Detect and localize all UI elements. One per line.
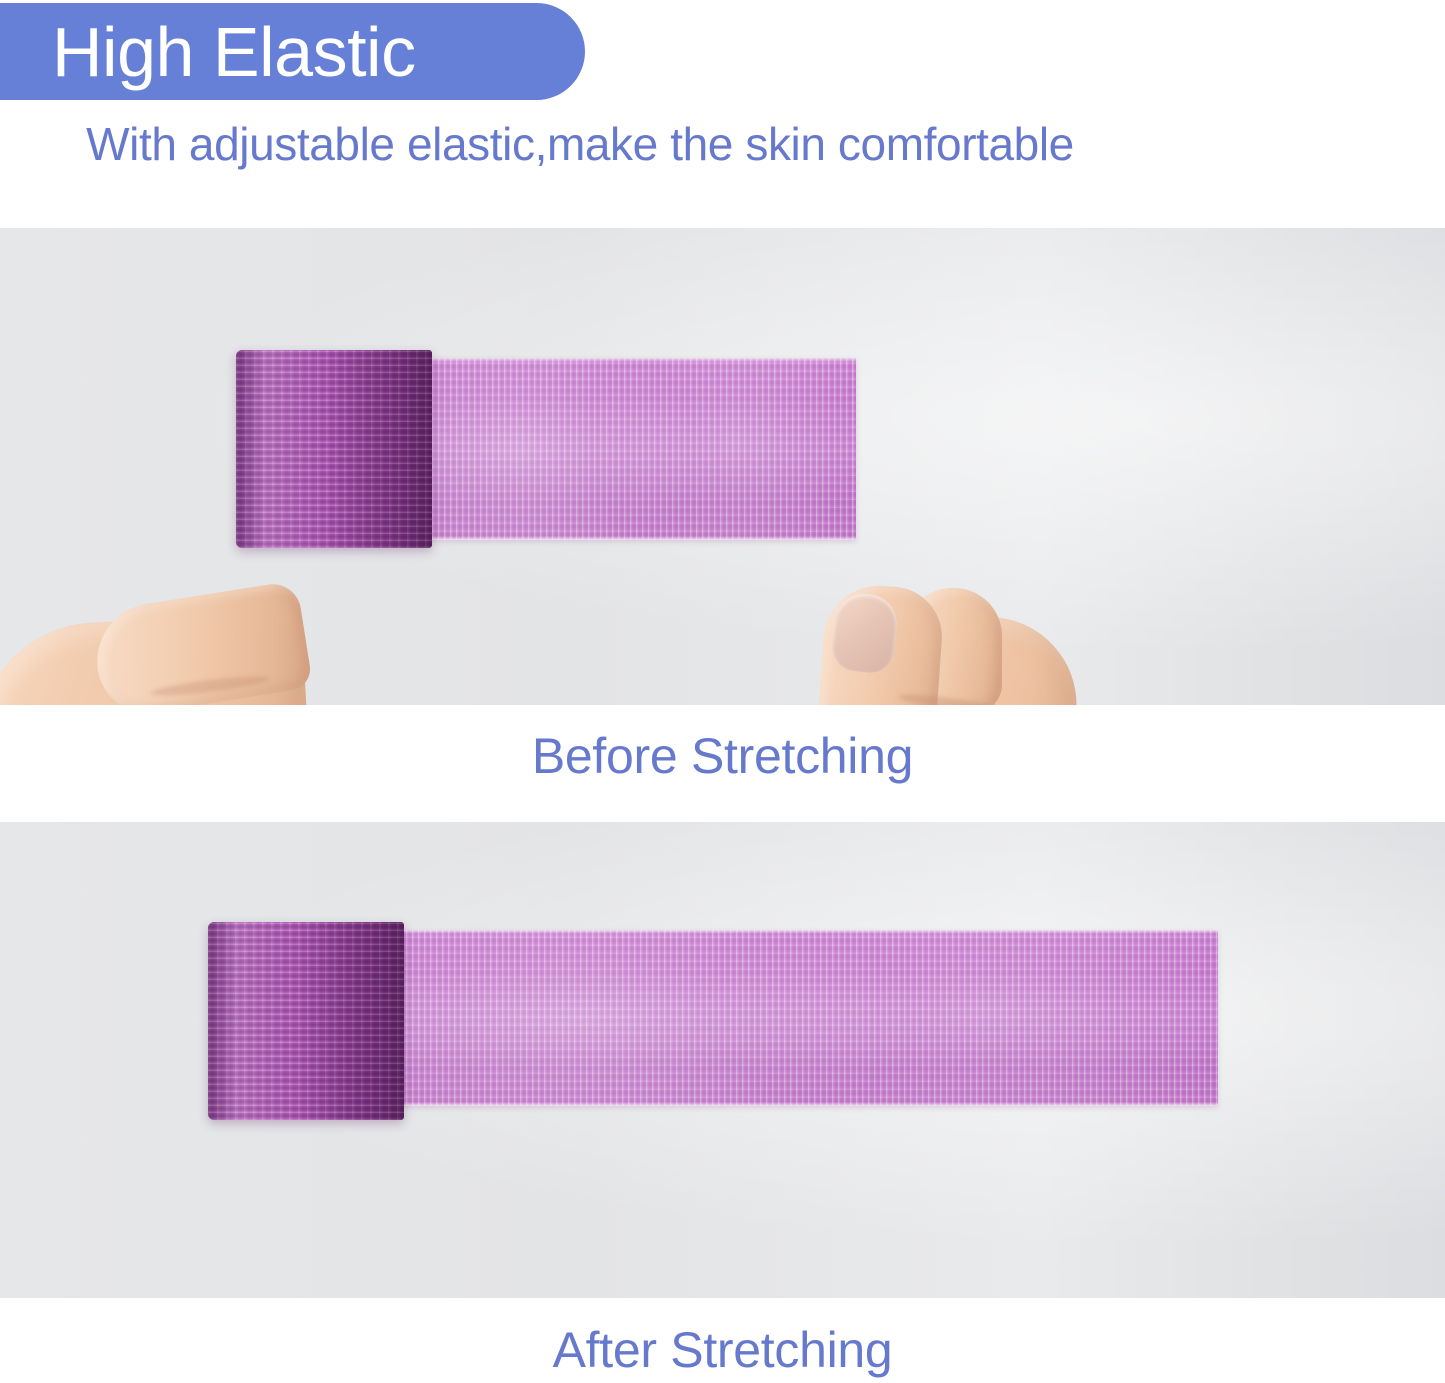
strip-edge-bottom: [426, 536, 856, 540]
banner-title: High Elastic: [52, 17, 416, 87]
caption-before-stretching: Before Stretching: [0, 728, 1445, 784]
header-subtitle: With adjustable elastic,make the skin co…: [0, 118, 1160, 170]
photo-before-stretching: [0, 228, 1445, 705]
bandage-strip-stretched: [400, 930, 1218, 1106]
caption-after-stretching: After Stretching: [0, 1322, 1445, 1378]
bandage-roll-left: [208, 922, 404, 1120]
strip-edge-bottom: [400, 1102, 1218, 1106]
strip-edge-top: [426, 358, 856, 362]
bandage-strip-unstretched: [426, 358, 856, 540]
photo-after-stretching: [0, 822, 1445, 1298]
header: High Elastic With adjustable elastic,mak…: [0, 0, 1445, 228]
high-elastic-banner: High Elastic: [0, 3, 585, 100]
bandage-roll-left: [236, 350, 432, 548]
strip-edge-top: [400, 930, 1218, 934]
